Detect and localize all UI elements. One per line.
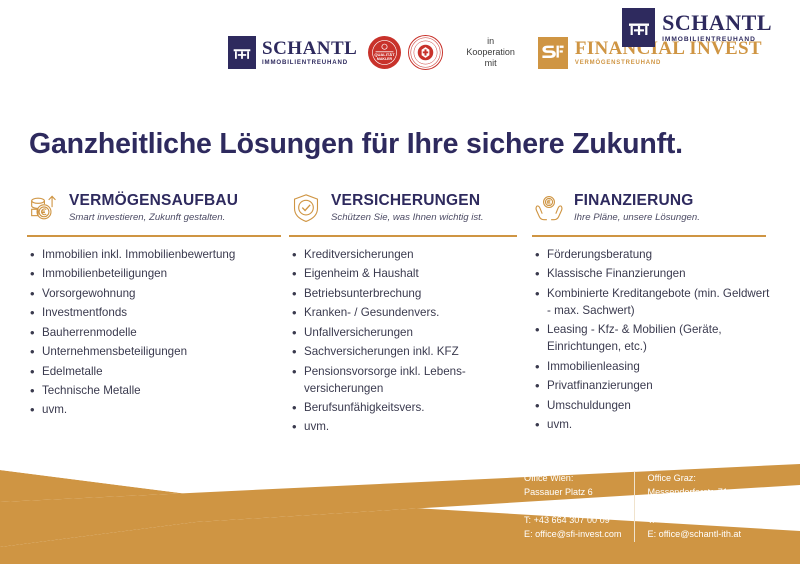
gerichtssachverstaendiger-seal-icon xyxy=(408,35,443,70)
shield-check-icon xyxy=(289,191,323,225)
divider-rule xyxy=(532,235,766,237)
schantl-wordmark: SCHANTL xyxy=(262,39,357,58)
list-item: Edelmetalle xyxy=(42,363,289,380)
cooperation-line-1: in xyxy=(466,36,515,47)
office-graz-phone[interactable]: T: +43 664 541 10 47 xyxy=(648,514,741,528)
list-item: uvm. xyxy=(42,401,289,418)
hands-holding-coin-icon xyxy=(532,191,566,225)
column-title: FINANZIERUNG xyxy=(574,193,700,209)
office-graz-title: Office Graz: xyxy=(648,472,741,486)
list-item: Sachversicherungen inkl. KFZ xyxy=(304,343,532,360)
poster-page: SCHANTL IMMOBILIENTREUHAND QUALITÄT MAKL… xyxy=(0,0,800,564)
service-columns: VERMÖGENSAUFBAU Smart investieren, Zukun… xyxy=(27,186,775,438)
office-graz-block: Office Graz: Messendorferstr. 71a 8041 G… xyxy=(634,472,741,542)
schantl-subtitle: IMMOBILIENTREUHAND xyxy=(262,60,357,66)
list-item: Investmentfonds xyxy=(42,304,289,321)
header-logo-strip: SCHANTL IMMOBILIENTREUHAND QUALITÄT MAKL… xyxy=(0,0,800,110)
column-header: VERSICHERUNGEN Schützen Sie, was Ihnen w… xyxy=(289,186,532,230)
list-item: Eigenheim & Haushalt xyxy=(304,265,532,282)
list-item: Bauherrenmodelle xyxy=(42,324,289,341)
cooperation-line-3: mit xyxy=(466,58,515,69)
list-item: Vorsorgewohnung xyxy=(42,285,289,302)
cooperation-line-2: Kooperation xyxy=(466,47,515,58)
financial-invest-subtitle: VERMÖGENSTREUHAND xyxy=(575,60,762,66)
office-graz-email[interactable]: E: office@schantl-ith.at xyxy=(648,528,741,542)
cooperation-note: in Kooperation mit xyxy=(466,36,515,70)
list-item: Immobilienbeteiligungen xyxy=(42,265,289,282)
list-item: Kreditversicherungen xyxy=(304,246,532,263)
list-item: Immobilien inkl. Immobilienbewertung xyxy=(42,246,289,263)
column-tagline: Schützen Sie, was Ihnen wichtig ist. xyxy=(331,212,484,223)
list-item: Kranken- / Gesundenvers. xyxy=(304,304,532,321)
office-wien-title: Office Wien: xyxy=(524,472,622,486)
coins-euro-growth-icon xyxy=(27,191,61,225)
list-item: uvm. xyxy=(547,416,775,433)
list-item: Technische Metalle xyxy=(42,382,289,399)
office-wien-block: Office Wien: Passauer Platz 6 1010 Wien … xyxy=(524,472,622,542)
svg-text:MAKLER: MAKLER xyxy=(377,57,393,61)
list-item: Unfallversicherungen xyxy=(304,324,532,341)
column-tagline: Smart investieren, Zukunft gestalten. xyxy=(69,212,238,223)
office-wien-phone[interactable]: T: +43 664 307 00 09 xyxy=(524,514,622,528)
service-list-vermoegensaufbau: Immobilien inkl. Immobilienbewertung Imm… xyxy=(27,246,289,418)
column-title: VERMÖGENSAUFBAU xyxy=(69,193,238,209)
list-item: Förderungsberatung xyxy=(547,246,775,263)
schantl-subtitle-top: IMMOBILIENTREUHAND xyxy=(662,37,772,44)
office-graz-city: 8041 Graz xyxy=(648,500,741,514)
ith-monogram-icon xyxy=(228,36,256,69)
column-title: VERSICHERUNGEN xyxy=(331,193,484,209)
schantl-ith-logo-top-right: SCHANTL IMMOBILIENTREUHAND xyxy=(622,8,772,47)
list-item: Immobilienleasing xyxy=(547,358,775,375)
list-item: Unternehmensbeteiligungen xyxy=(42,343,289,360)
list-item: Betriebsunterbrechung xyxy=(304,285,532,302)
list-item: Pensionsvorsorge inkl. Lebens-versicheru… xyxy=(304,363,532,397)
list-item: Umschuldungen xyxy=(547,397,775,414)
ith-monogram-icon-top xyxy=(622,8,655,47)
list-item: Privatfinanzierungen xyxy=(547,377,775,394)
service-list-versicherungen: Kreditversicherungen Eigenheim & Haushal… xyxy=(289,246,532,435)
list-item: Leasing - Kfz- & Mobilien (Geräte, Einri… xyxy=(547,321,775,355)
list-item: Berufsunfähigkeitsvers. xyxy=(304,399,532,416)
column-header: VERMÖGENSAUFBAU Smart investieren, Zukun… xyxy=(27,186,289,230)
divider-rule xyxy=(289,235,517,237)
schantl-ith-logo: SCHANTL IMMOBILIENTREUHAND xyxy=(228,36,357,69)
column-header: FINANZIERUNG Ihre Pläne, unsere Lösungen… xyxy=(532,186,775,230)
service-list-finanzierung: Förderungsberatung Klassische Finanzieru… xyxy=(532,246,775,433)
sfi-monogram-icon xyxy=(538,37,568,69)
page-title: Ganzheitliche Lösungen für Ihre sichere … xyxy=(29,128,683,161)
schantl-wordmark-top: SCHANTL xyxy=(662,12,772,34)
qualitaetsmakler-seal-icon: QUALITÄT MAKLER xyxy=(368,36,401,69)
office-wien-email[interactable]: E: office@sfi-invest.com xyxy=(524,528,622,542)
office-wien-street: Passauer Platz 6 xyxy=(524,486,622,500)
column-vermoegensaufbau: VERMÖGENSAUFBAU Smart investieren, Zukun… xyxy=(27,186,289,438)
list-item: Kombinierte Kreditangebote (min. Geldwer… xyxy=(547,285,775,319)
list-item: uvm. xyxy=(304,418,532,435)
column-finanzierung: FINANZIERUNG Ihre Pläne, unsere Lösungen… xyxy=(532,186,775,438)
office-graz-street: Messendorferstr. 71a xyxy=(648,486,741,500)
list-item: Klassische Finanzierungen xyxy=(547,265,775,282)
column-versicherungen: VERSICHERUNGEN Schützen Sie, was Ihnen w… xyxy=(289,186,532,438)
column-tagline: Ihre Pläne, unsere Lösungen. xyxy=(574,212,700,223)
footer-offices: Office Wien: Passauer Platz 6 1010 Wien … xyxy=(524,472,741,542)
office-wien-city: 1010 Wien xyxy=(524,500,622,514)
divider-rule xyxy=(27,235,281,237)
